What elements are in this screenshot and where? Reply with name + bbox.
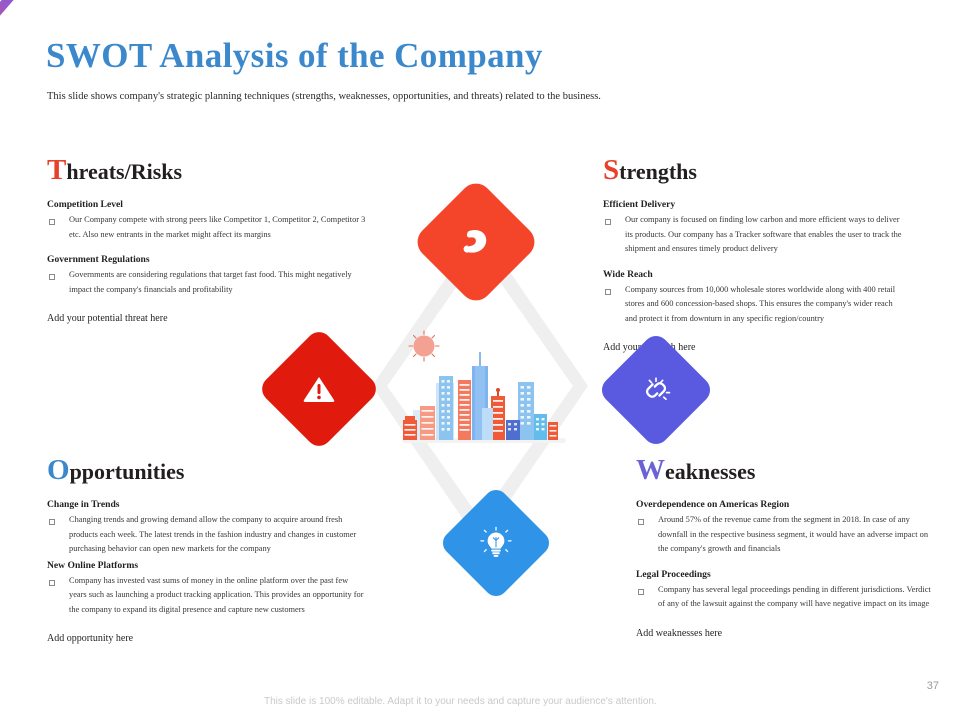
- quadrant-weaknesses-heading-rest: eaknesses: [665, 459, 755, 484]
- weaknesses-item-1-title: Legal Proceedings: [636, 569, 936, 581]
- city-skyline-illustration: [398, 328, 570, 450]
- quadrant-strengths-dropcap: S: [603, 154, 619, 186]
- weaknesses-item-1: Company has several legal proceedings pe…: [636, 583, 936, 612]
- threats-item-1-text: Governments are considering regulations …: [69, 268, 367, 297]
- bullet-square-icon: [638, 519, 644, 525]
- opportunities-item-1-text: Company has invested vast sums of money …: [69, 574, 367, 617]
- strengths-item-0: Our company is focused on finding low ca…: [603, 213, 903, 256]
- quadrant-strengths: Strengths Efficient Delivery Our company…: [603, 155, 903, 353]
- brand-stripe-1: [0, 0, 15, 56]
- footer-note: This slide is 100% editable. Adapt it to…: [264, 696, 657, 707]
- page-number: 37: [927, 680, 939, 692]
- strengths-item-1-text: Company sources from 10,000 wholesale st…: [625, 283, 903, 326]
- weaknesses-add-placeholder[interactable]: Add weaknesses here: [636, 628, 936, 639]
- quadrant-weaknesses-dropcap: W: [636, 454, 665, 486]
- threats-item-0-text: Our Company compete with strong peers li…: [69, 213, 367, 242]
- opportunities-item-0-text: Changing trends and growing demand allow…: [69, 513, 367, 556]
- quadrant-weaknesses-heading: Weaknesses: [636, 455, 936, 485]
- page-title: SWOT Analysis of the Company: [46, 36, 543, 76]
- bullet-square-icon: [49, 519, 55, 525]
- opportunities-item-1-title: New Online Platforms: [47, 560, 367, 572]
- strengths-item-0-text: Our company is focused on finding low ca…: [625, 213, 903, 256]
- quadrant-opportunities-heading: Opportunities: [47, 455, 367, 485]
- quadrant-opportunities-dropcap: O: [47, 454, 70, 486]
- opportunities-item-0-title: Change in Trends: [47, 499, 367, 511]
- quadrant-threats: Threats/Risks Competition Level Our Comp…: [47, 155, 367, 324]
- opportunities-item-1: Company has invested vast sums of money …: [47, 574, 367, 617]
- bullet-square-icon: [49, 219, 55, 225]
- warning-triangle-icon: [300, 370, 338, 408]
- threats-item-0-title: Competition Level: [47, 199, 367, 211]
- strengths-item-1-title: Wide Reach: [603, 269, 903, 281]
- quadrant-threats-dropcap: T: [47, 154, 66, 186]
- quadrant-opportunities-heading-rest: pportunities: [70, 459, 185, 484]
- quadrant-threats-heading-rest: hreats/Risks: [66, 159, 182, 184]
- weaknesses-item-1-text: Company has several legal proceedings pe…: [658, 583, 936, 612]
- bullet-square-icon: [49, 580, 55, 586]
- flexed-bicep-icon: [456, 222, 496, 262]
- threats-item-1: Governments are considering regulations …: [47, 268, 367, 297]
- quadrant-threats-heading: Threats/Risks: [47, 155, 367, 185]
- weaknesses-item-0-text: Around 57% of the revenue came from the …: [658, 513, 936, 556]
- diagram-node-strengths[interactable]: [430, 196, 522, 288]
- quadrant-opportunities: Opportunities Change in Trends Changing …: [47, 455, 367, 644]
- diagram-node-threats[interactable]: [275, 345, 363, 433]
- threats-item-0: Our Company compete with strong peers li…: [47, 213, 367, 242]
- bullet-square-icon: [49, 274, 55, 280]
- page-subtitle: This slide shows company's strategic pla…: [47, 91, 601, 102]
- quadrant-weaknesses: Weaknesses Overdependence on Americas Re…: [636, 455, 936, 639]
- weaknesses-item-0-title: Overdependence on Americas Region: [636, 499, 936, 511]
- strengths-item-1: Company sources from 10,000 wholesale st…: [603, 283, 903, 326]
- quadrant-strengths-heading: Strengths: [603, 155, 903, 185]
- opportunities-item-0: Changing trends and growing demand allow…: [47, 513, 367, 556]
- diagram-node-weaknesses[interactable]: [614, 348, 698, 432]
- lightbulb-icon: [478, 525, 514, 561]
- quadrant-strengths-heading-rest: trengths: [619, 159, 697, 184]
- brand-stripe-2: [0, 0, 33, 56]
- opportunities-add-placeholder[interactable]: Add opportunity here: [47, 633, 367, 644]
- bullet-square-icon: [638, 589, 644, 595]
- diagram-node-opportunities[interactable]: [455, 502, 537, 584]
- threats-add-placeholder[interactable]: Add your potential threat here: [47, 313, 367, 324]
- threats-item-1-title: Government Regulations: [47, 254, 367, 266]
- broken-chain-icon: [638, 372, 674, 408]
- strengths-item-0-title: Efficient Delivery: [603, 199, 903, 211]
- weaknesses-item-0: Around 57% of the revenue came from the …: [636, 513, 936, 556]
